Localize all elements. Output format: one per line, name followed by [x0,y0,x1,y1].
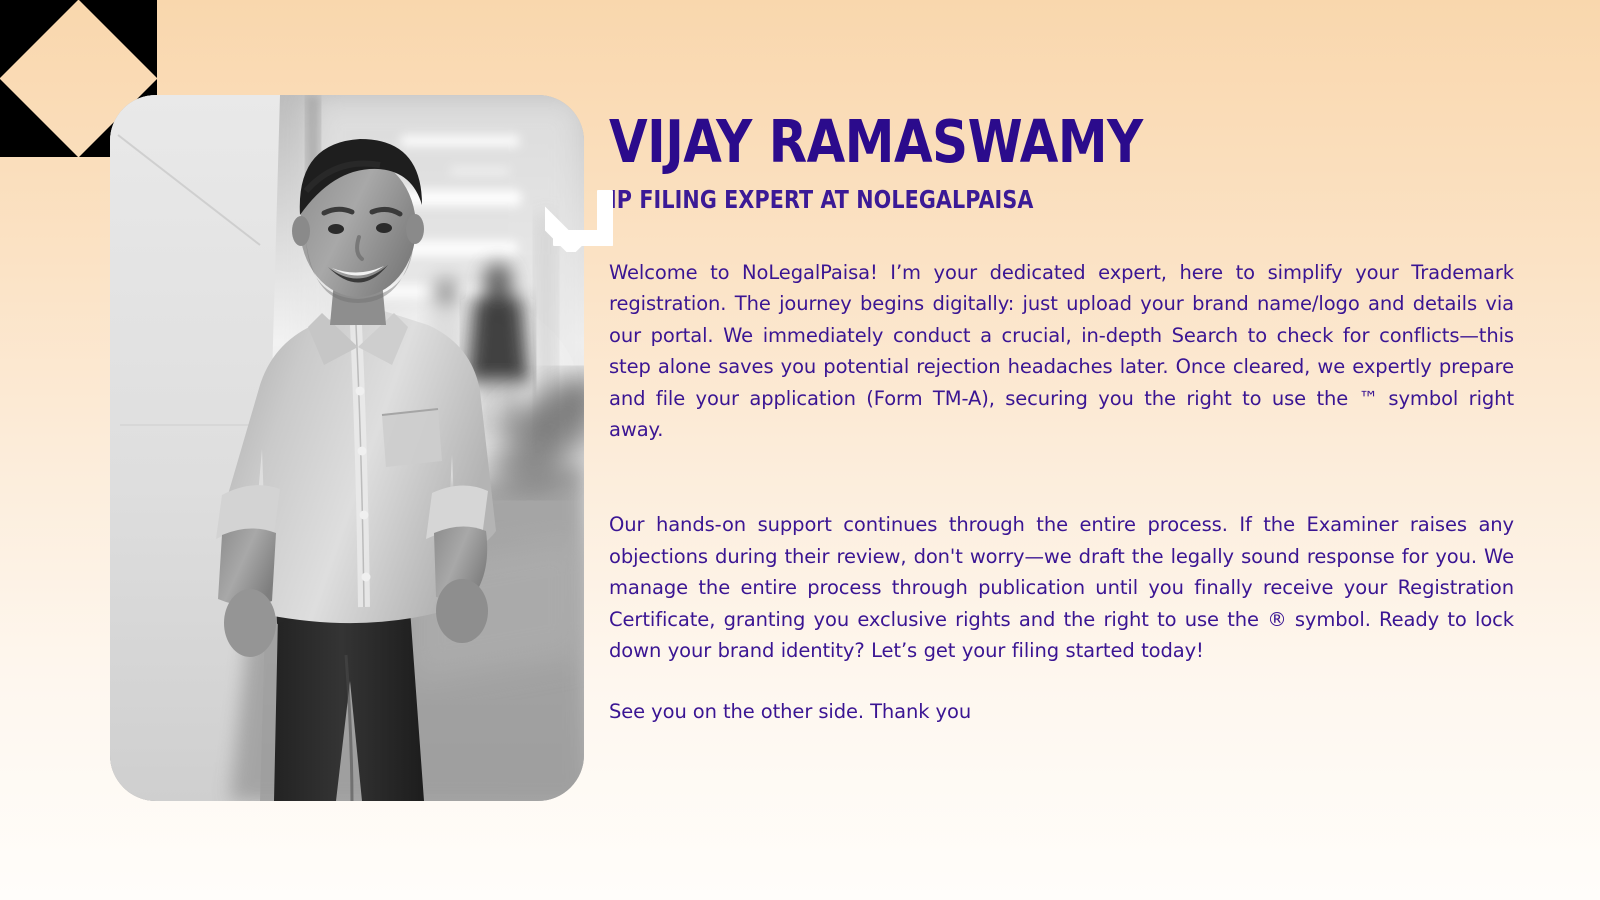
pinwheel-triangle-bottom-left [0,79,78,157]
intro-paragraph-1: Welcome to NoLegalPaisa! I’m your dedica… [609,257,1514,445]
intro-slide: VIJAY RAMASWAMY IP FILING EXPERT AT NOLE… [0,0,1600,900]
portrait-photo [110,95,584,801]
role-subtitle: IP FILING EXPERT AT NOLEGALPAISA [609,187,1442,212]
arrow-down-right-icon [545,178,619,252]
text-column: VIJAY RAMASWAMY IP FILING EXPERT AT NOLE… [609,112,1514,728]
page-title: VIJAY RAMASWAMY [609,112,1460,171]
pinwheel-triangle-top-left [0,0,78,78]
closing-line: See you on the other side. Thank you [609,696,1514,727]
intro-paragraph-2: Our hands-on support continues through t… [609,509,1514,666]
pinwheel-triangle-top-right [79,0,157,78]
